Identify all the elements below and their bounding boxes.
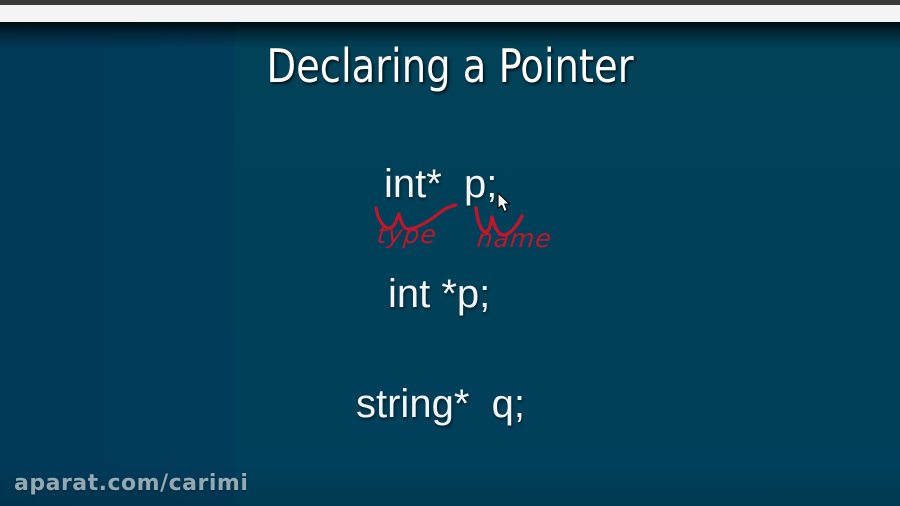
player-top-bar[interactable] <box>0 5 900 23</box>
ink-label-name: name <box>475 224 553 253</box>
slide-main-area <box>234 22 900 506</box>
slide-title: Declaring a Pointer <box>32 40 869 92</box>
mouse-cursor-icon <box>497 192 513 214</box>
code-line-int-star-p: int *p; <box>388 272 490 316</box>
slide-left-band <box>0 22 234 506</box>
ink-label-type: type <box>375 220 438 249</box>
video-player-frame: Declaring a Pointer int* p; int *p; stri… <box>0 0 900 506</box>
watermark-text: aparat.com/carimi <box>14 471 248 496</box>
presentation-slide: Declaring a Pointer int* p; int *p; stri… <box>0 22 900 506</box>
code-line-string-pointer-q: string* q; <box>356 382 525 426</box>
code-line-int-pointer-p: int* p; <box>384 162 497 206</box>
